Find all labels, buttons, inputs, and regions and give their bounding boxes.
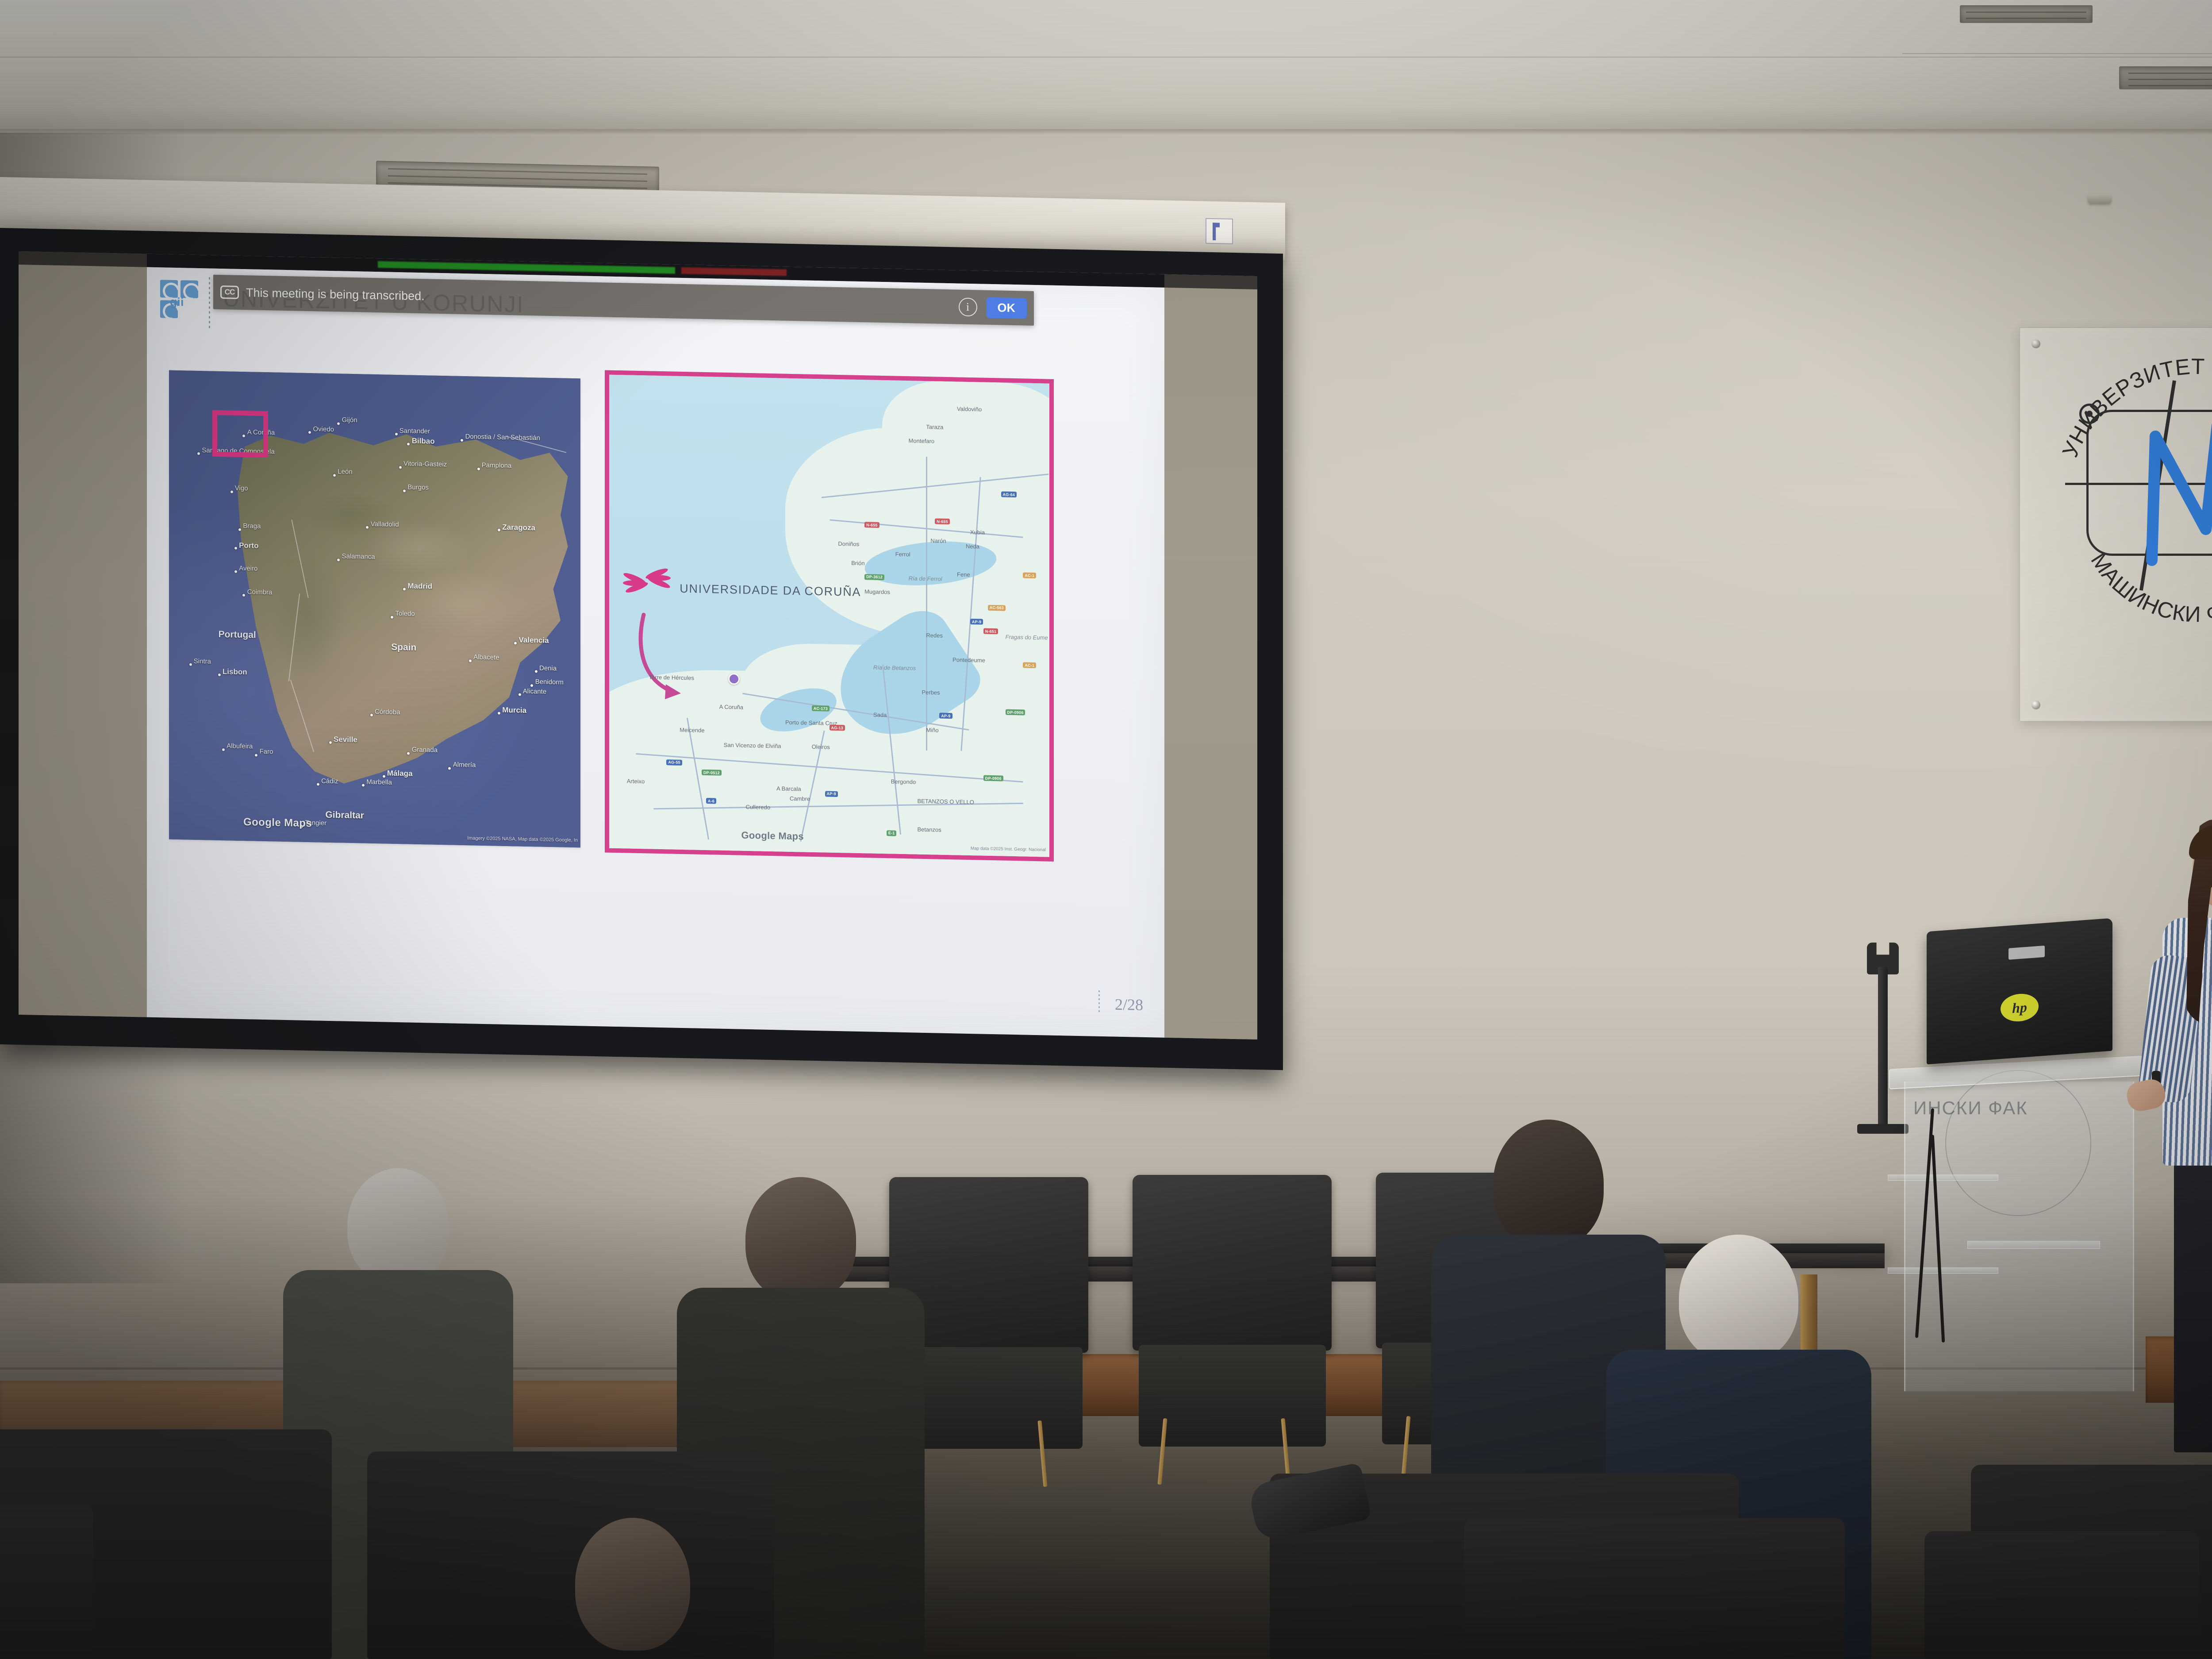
map-city-label: Alicante — [523, 687, 546, 695]
podium-shelf — [1888, 1174, 1998, 1181]
map-city-label: Burgos — [407, 483, 429, 491]
map-place-label: Brión — [851, 559, 864, 566]
map-place-label: Ferrol — [895, 551, 910, 558]
map-place-label: Mugardos — [864, 588, 890, 595]
road-shield: A-6 — [706, 798, 716, 804]
map-place-label: Miño — [926, 727, 938, 734]
map-place-label: Neda — [966, 543, 979, 550]
ceiling-panel-line — [1902, 53, 2212, 54]
poi-label: Torre de Hércules — [649, 674, 695, 681]
plaque-monogram-m — [2139, 383, 2212, 574]
map-city-label: Gijón — [342, 416, 357, 424]
map-city-label: Braga — [243, 522, 261, 530]
page-number: 2/28 — [1115, 995, 1143, 1014]
gear-icon — [2079, 404, 2100, 424]
screen-unlit-margin-right — [1164, 274, 1257, 1039]
map-country-label: Spain — [391, 642, 416, 653]
map-city-label: Denia — [539, 664, 557, 672]
podium-shelf — [1967, 1241, 2100, 1249]
podium-emblem — [1945, 1070, 2091, 1216]
map-place-label: Perbes — [922, 689, 940, 696]
map-city-dot — [477, 467, 480, 470]
presenter-fringe — [2189, 825, 2212, 859]
map-place-label: Cambre — [790, 795, 810, 802]
map-city-label: Vitoria-Gasteiz — [403, 460, 447, 468]
map-city-label: Cádiz — [321, 777, 338, 785]
google-maps-watermark: Google Maps — [243, 816, 312, 830]
cable — [1931, 1135, 1945, 1343]
map-landmass — [882, 380, 1054, 535]
map-place-label: Betanzos — [918, 826, 941, 833]
map-city-dot — [399, 466, 402, 469]
map-city-label: Bilbao — [412, 437, 435, 446]
map-city-label: Sintra — [194, 657, 211, 665]
map-city-label: Málaga — [387, 769, 413, 778]
map-city-label: Benidorm — [535, 678, 564, 686]
map-place-label: Culleredo — [745, 804, 770, 811]
map-city-label: Seville — [334, 735, 357, 744]
presenter — [2137, 823, 2212, 1451]
map-place-label: Redes — [926, 632, 943, 639]
map-city-label: Albacete — [473, 654, 499, 662]
map-city-dot — [230, 491, 233, 493]
map-city-dot — [383, 775, 385, 778]
page-number-divider — [1098, 990, 1100, 1014]
map-city-label: Albufeira — [227, 743, 253, 751]
map-place-label: Doniños — [838, 540, 859, 547]
road-shield: AG-55 — [666, 759, 682, 766]
map-city-label: Zaragoza — [502, 523, 535, 532]
ceiling — [0, 0, 2212, 133]
road-shield: AG-64 — [1001, 492, 1017, 498]
road-shield: AC-563 — [988, 605, 1006, 611]
map-place-label: BETANZOS O VELLO — [918, 797, 974, 805]
map-place-label: Bergondo — [891, 778, 916, 785]
closed-caption-icon: CC — [220, 285, 239, 299]
conference-room: gii UNIVERZITET U KORUNJI — [0, 0, 2212, 1659]
road-shield: E-1 — [887, 830, 897, 836]
map-city-label: Madrid — [407, 582, 432, 591]
map-city-label: Vigo — [235, 485, 248, 493]
map-city-dot — [333, 474, 336, 477]
map-city-label: Lisbon — [223, 667, 247, 677]
chair-back — [1924, 1531, 2199, 1659]
road-shield: N-655 — [935, 519, 950, 525]
transcription-message: This meeting is being transcribed. — [246, 286, 425, 303]
presenter-legs — [2174, 1156, 2212, 1452]
ok-button[interactable]: OK — [986, 297, 1027, 319]
road-shield: AP-9 — [825, 791, 838, 797]
ceiling-vent — [2119, 66, 2212, 89]
podium-body: ИНСКИ ФАК — [1904, 1082, 2134, 1391]
chair-back — [1464, 1518, 1845, 1659]
map-city-dot — [218, 674, 221, 676]
laptop[interactable]: hp — [1927, 918, 2112, 1065]
map-city-label: Salamanca — [342, 552, 375, 561]
smoke-detector — [2088, 194, 2111, 204]
map-country-label: Gibraltar — [325, 810, 364, 821]
person-head — [1493, 1120, 1604, 1248]
map-country-label: Portugal — [219, 629, 256, 641]
map-city-label: Santander — [399, 427, 430, 435]
map-city-label: Valladolid — [371, 520, 399, 528]
presentation-slide: gii UNIVERZITET U KORUNJI — [147, 267, 1164, 1038]
map-city-dot — [498, 712, 500, 714]
ceiling-edge — [0, 129, 2212, 135]
road-shield: AG-13 — [829, 725, 845, 731]
map-city-label: Donostia / San Sebastián — [465, 433, 540, 442]
plaque-emblem-body — [2086, 410, 2212, 556]
chair[interactable] — [1133, 1175, 1332, 1458]
map-city-label: Toledo — [396, 610, 415, 618]
projection-screen-frame: gii UNIVERZITET U KORUNJI — [0, 228, 1283, 1070]
map-place-label: Valdoviño — [957, 405, 982, 412]
road-shield: DP-0906 — [983, 775, 1003, 781]
screen-unlit-margin-left — [19, 251, 147, 1017]
road-shield: DP-0512 — [702, 770, 722, 776]
road-shield: N-655 — [864, 522, 879, 528]
person-head — [745, 1177, 856, 1301]
map-place-label: Montefaro — [909, 438, 935, 445]
map-place-label: Fragas do Eume — [1006, 634, 1048, 641]
gii-logo-wordmark: gii — [170, 295, 184, 309]
map-city-dot — [337, 558, 340, 561]
wall-plaque-university-emblem: УНИВЕРЗИТЕТ У БЕОГРАДУ МАШИНСКИ ФАКУЛТЕТ — [2020, 327, 2212, 721]
screen-brand-logo — [1206, 218, 1233, 244]
map-city-label: Aveiro — [239, 564, 257, 572]
person-head — [1679, 1235, 1798, 1363]
info-icon[interactable]: i — [959, 297, 977, 316]
map-road — [926, 457, 927, 750]
map-a-coruna-roads: ValdoviñoTarazaMontefaroXubiaNedaNarónDo… — [605, 370, 1054, 861]
podium-shelf — [1888, 1267, 1998, 1274]
projection-screen-surface: gii UNIVERZITET U KORUNJI — [19, 251, 1257, 1039]
map-place-label: San Vicenzo de Elviña — [724, 742, 781, 750]
laptop-sticker — [2008, 946, 2045, 960]
microphone-stand — [1878, 967, 1888, 1126]
map-city-label: Pamplona — [482, 462, 512, 470]
map-city-label: Faro — [260, 748, 273, 756]
person-head — [347, 1168, 449, 1283]
map-place-label: Oleiros — [812, 743, 830, 751]
poi-marker-torre-hercules — [728, 673, 740, 685]
road-shield: AC-173 — [812, 705, 829, 712]
pink-arrow-icon — [636, 612, 746, 716]
map-city-label: Murcia — [502, 706, 526, 715]
map-place-label: Fene — [957, 571, 970, 578]
map-place-label: Narón — [930, 537, 946, 544]
map-city-label: Granada — [412, 746, 438, 754]
plaque-screw — [2032, 339, 2040, 348]
road-shield: N-651 — [983, 628, 998, 635]
map-city-dot — [329, 741, 332, 744]
ceiling-panel-line — [0, 57, 2212, 58]
map-city-label: Marbella — [366, 778, 392, 786]
road-shield: AC-1 — [1023, 662, 1036, 669]
road-shield: AC-1 — [1023, 572, 1036, 578]
road-shield: DP-3612 — [864, 574, 884, 580]
map-highlight-box — [212, 410, 268, 458]
lectern-podium: ИНСКИ ФАК — [1898, 1062, 2146, 1407]
map-city-dot — [403, 489, 406, 492]
map-city-label: Valencia — [519, 636, 549, 645]
road-shield: DP-0906 — [1006, 709, 1025, 716]
map-city-label: Córdoba — [375, 708, 400, 716]
map-place-label: Taraza — [926, 423, 943, 431]
road-shield: AP-9 — [939, 713, 952, 719]
person-head — [575, 1518, 690, 1651]
map-place-label: Pontedeume — [952, 656, 985, 663]
audience-member — [495, 1518, 770, 1659]
title-divider — [209, 277, 210, 328]
hp-logo-icon: hp — [2001, 993, 2039, 1023]
map-city-label: Porto — [239, 541, 258, 550]
map-place-label: A Barcala — [776, 785, 801, 792]
map-city-label: Coimbra — [247, 588, 273, 596]
map-city-label: Almería — [453, 761, 476, 769]
map-place-label: Ría de Ferrol — [909, 575, 942, 582]
plaque-screw — [2032, 701, 2040, 709]
road-shield: AP-9 — [970, 619, 983, 625]
google-maps-watermark: Google Maps — [741, 830, 804, 843]
map-place-label: Meicende — [680, 727, 704, 734]
ceiling-vent — [1960, 5, 2093, 23]
map-city-label: Oviedo — [313, 425, 334, 433]
map-place-label: Ría de Betanzos — [873, 664, 916, 672]
map-iberia-satellite: A CoruñaSantiago de CompostelaGijónOvied… — [169, 370, 580, 848]
map-place-label: Arteixo — [627, 778, 645, 785]
map-city-label: León — [338, 468, 352, 476]
chair-back — [0, 1505, 93, 1659]
udc-logo-icon — [622, 564, 671, 591]
map-place-label: Sada — [873, 712, 887, 719]
map-place-label: Xubia — [970, 529, 985, 536]
